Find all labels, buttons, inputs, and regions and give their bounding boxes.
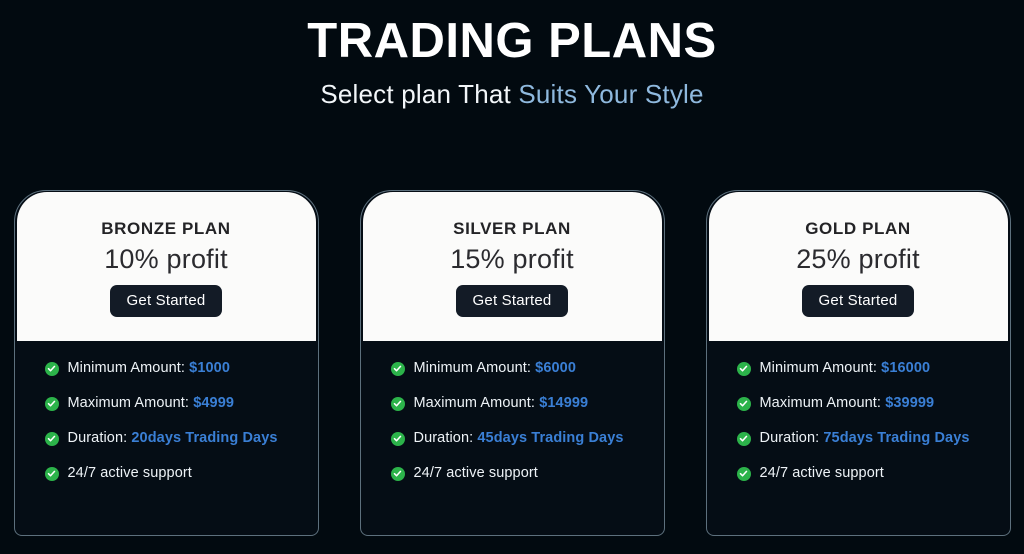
feature-label: Duration: [68,430,132,446]
plan-profit: 15% profit [363,244,662,275]
feature-label: Maximum Amount: [760,395,886,411]
feature-text: Minimum Amount: $16000 [760,361,931,377]
plan-card-silver[interactable]: SILVER PLAN 15% profit Get Started Minim… [360,190,665,536]
feature-row: Duration: 45days Trading Days [391,431,650,447]
feature-label: Minimum Amount: [760,360,882,376]
check-circle-icon [391,362,405,376]
feature-row: 24/7 active support [45,466,304,482]
feature-label: Maximum Amount: [414,395,540,411]
feature-row: 24/7 active support [737,466,996,482]
feature-row: 24/7 active support [391,466,650,482]
feature-row: Maximum Amount: $4999 [45,396,304,412]
feature-label: Maximum Amount: [68,395,194,411]
get-started-button[interactable]: Get Started [110,285,223,317]
feature-text: Minimum Amount: $6000 [414,361,577,377]
feature-label: Duration: [760,430,824,446]
feature-label: 24/7 active support [414,465,538,481]
feature-value: $6000 [535,360,576,376]
plan-name: BRONZE PLAN [17,219,316,239]
check-circle-icon [45,362,59,376]
feature-text: Maximum Amount: $4999 [68,396,235,412]
plans-row: BRONZE PLAN 10% profit Get Started Minim… [0,190,1024,536]
plan-feature-list: Minimum Amount: $1000Maximum Amount: $49… [15,341,318,535]
plan-card-bronze[interactable]: BRONZE PLAN 10% profit Get Started Minim… [14,190,319,536]
feature-text: Maximum Amount: $14999 [414,396,589,412]
check-circle-icon [45,432,59,446]
check-circle-icon [45,397,59,411]
page-subtitle-accent: Suits Your Style [518,79,703,109]
plan-card-header: GOLD PLAN 25% profit Get Started [709,192,1008,341]
feature-row: Duration: 75days Trading Days [737,431,996,447]
check-circle-icon [391,467,405,481]
feature-label: 24/7 active support [760,465,884,481]
check-circle-icon [45,467,59,481]
feature-value: 45days Trading Days [477,430,623,446]
plan-card-header: SILVER PLAN 15% profit Get Started [363,192,662,341]
feature-value: 20days Trading Days [131,430,277,446]
get-started-button[interactable]: Get Started [456,285,569,317]
page-header: TRADING PLANS Select plan That Suits You… [0,0,1024,111]
feature-row: Minimum Amount: $16000 [737,361,996,377]
feature-row: Duration: 20days Trading Days [45,431,304,447]
feature-value: 75days Trading Days [823,430,969,446]
check-circle-icon [737,432,751,446]
feature-text: 24/7 active support [68,466,192,482]
page-subtitle-plain: Select plan That [320,79,518,109]
check-circle-icon [737,397,751,411]
feature-text: Duration: 20days Trading Days [68,431,278,447]
page-subtitle: Select plan That Suits Your Style [0,79,1024,110]
plan-feature-list: Minimum Amount: $6000Maximum Amount: $14… [361,341,664,535]
feature-value: $4999 [193,395,234,411]
feature-value: $39999 [885,395,934,411]
feature-text: Maximum Amount: $39999 [760,396,935,412]
feature-value: $14999 [539,395,588,411]
page-title: TRADING PLANS [0,16,1024,67]
feature-text: Duration: 75days Trading Days [760,431,970,447]
feature-label: Duration: [414,430,478,446]
feature-text: 24/7 active support [760,466,884,482]
plan-name: SILVER PLAN [363,219,662,239]
feature-text: Minimum Amount: $1000 [68,361,231,377]
check-circle-icon [737,362,751,376]
check-circle-icon [391,397,405,411]
plan-name: GOLD PLAN [709,219,1008,239]
feature-value: $1000 [189,360,230,376]
feature-row: Minimum Amount: $6000 [391,361,650,377]
get-started-button[interactable]: Get Started [802,285,915,317]
check-circle-icon [737,467,751,481]
feature-text: Duration: 45days Trading Days [414,431,624,447]
feature-label: Minimum Amount: [68,360,190,376]
feature-row: Maximum Amount: $39999 [737,396,996,412]
feature-value: $16000 [881,360,930,376]
feature-text: 24/7 active support [414,466,538,482]
feature-label: 24/7 active support [68,465,192,481]
check-circle-icon [391,432,405,446]
feature-label: Minimum Amount: [414,360,536,376]
plan-card-header: BRONZE PLAN 10% profit Get Started [17,192,316,341]
plan-profit: 10% profit [17,244,316,275]
plan-feature-list: Minimum Amount: $16000Maximum Amount: $3… [707,341,1010,535]
feature-row: Maximum Amount: $14999 [391,396,650,412]
plan-card-gold[interactable]: GOLD PLAN 25% profit Get Started Minimum… [706,190,1011,536]
plan-profit: 25% profit [709,244,1008,275]
feature-row: Minimum Amount: $1000 [45,361,304,377]
